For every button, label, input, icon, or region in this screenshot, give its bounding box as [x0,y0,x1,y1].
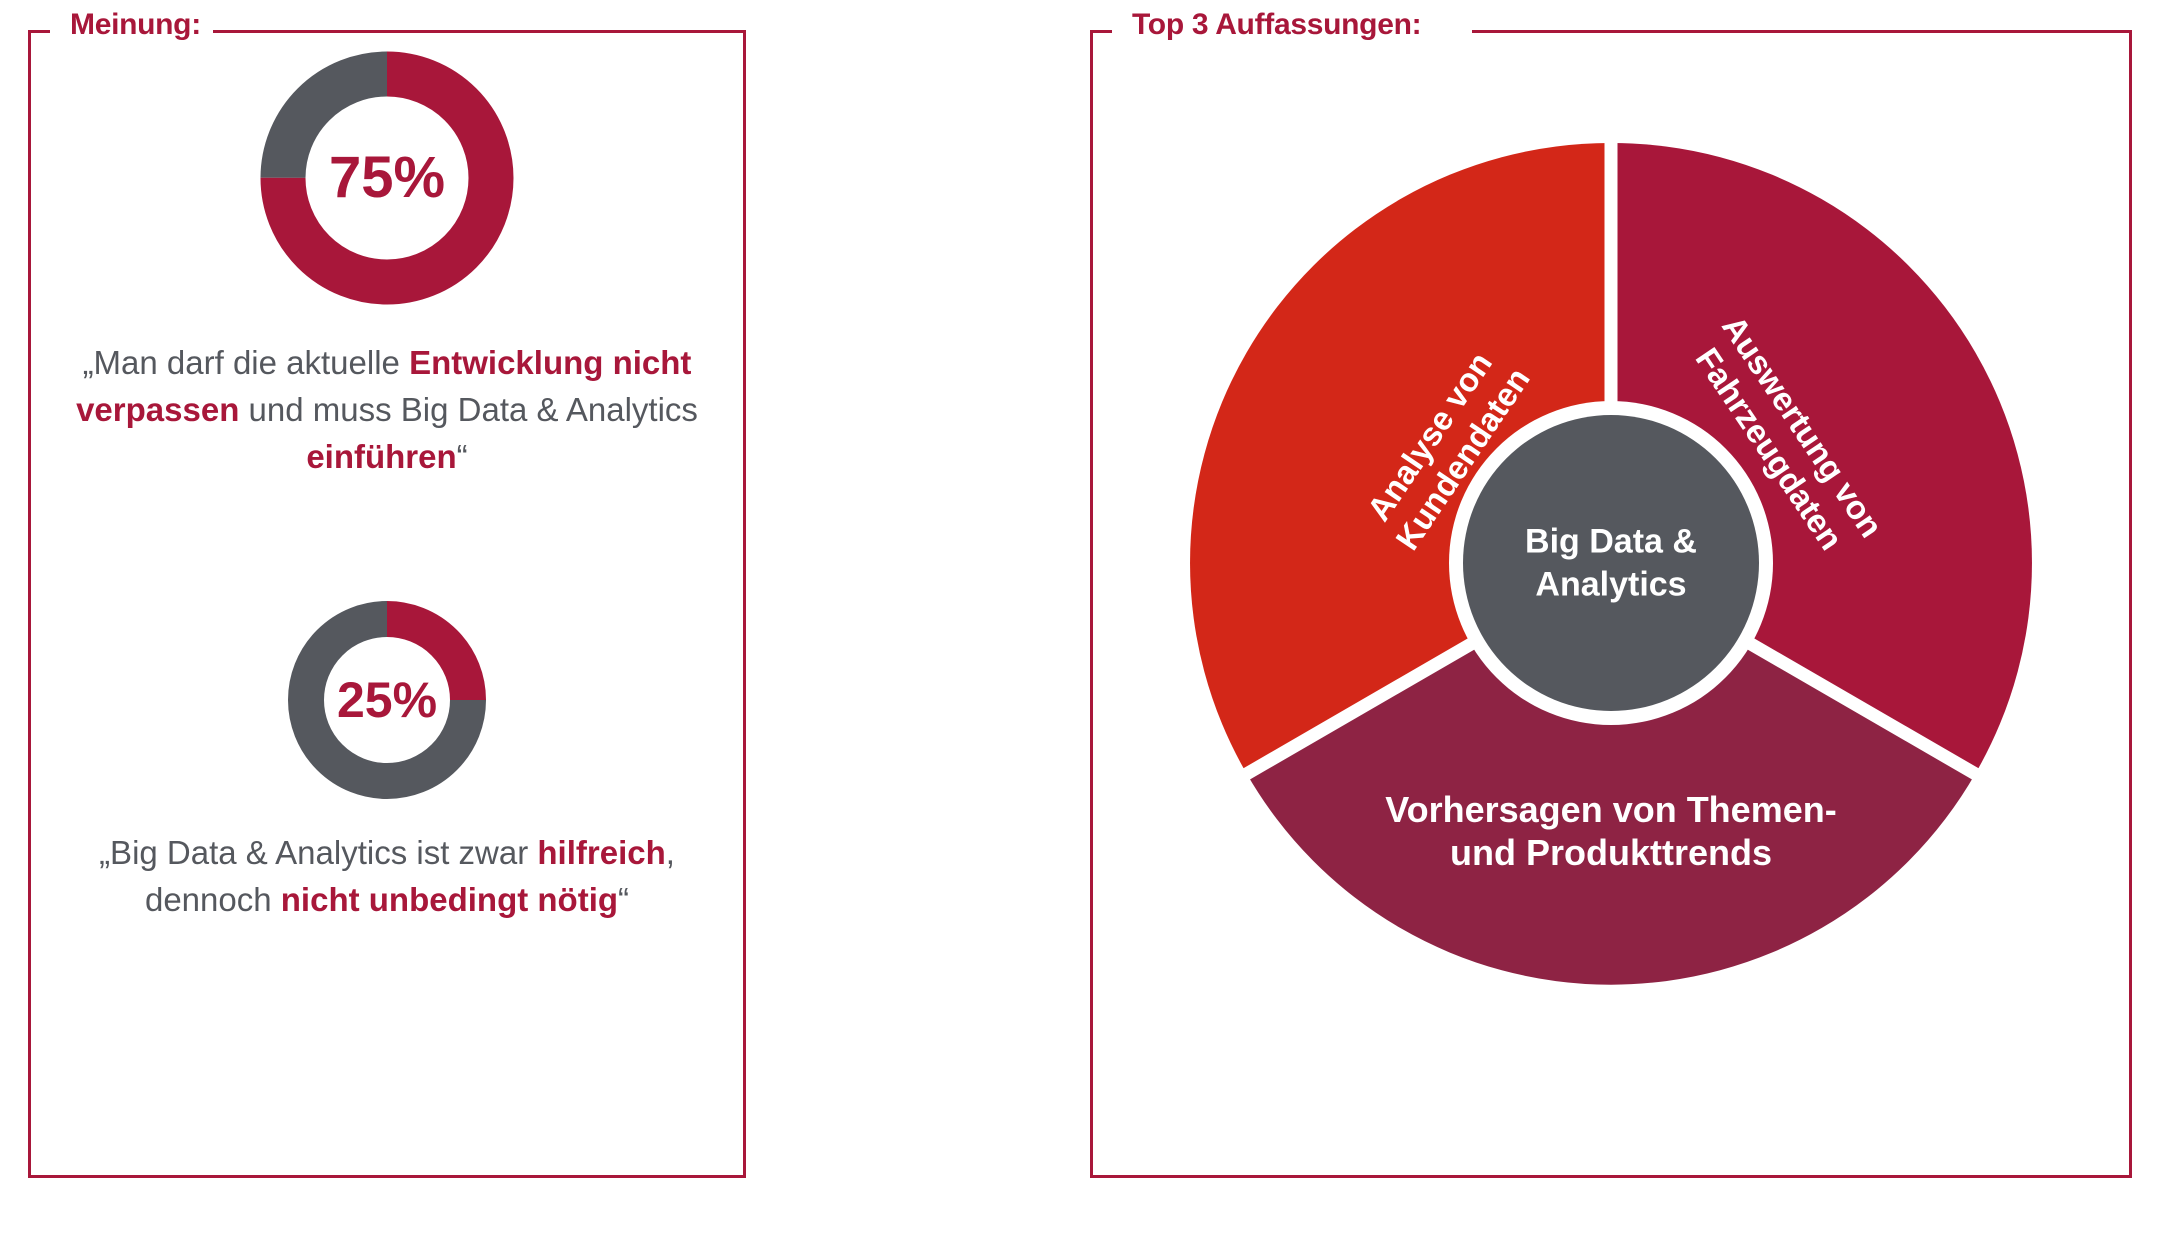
quote-plain: „Man darf die aktuelle [83,344,410,381]
pie-chart-top3: Big Data & Analytics Analyse von Kundend… [1146,98,2076,1028]
donut-block-75: 75% „Man darf die aktuelle Entwicklung n… [28,50,746,481]
quote-highlight: nicht unbedingt nötig [281,881,618,918]
panel-left-title: Meinung: [58,8,213,42]
donut-25-value-label: 25% [287,675,487,725]
quote-text-1: „Man darf die aktuelle Entwicklung nicht… [28,340,746,481]
panel-right-title: Top 3 Auffassungen: [1120,8,1433,42]
panel-left-frame-top-right [208,30,746,33]
quote-text-2: „Big Data & Analytics ist zwar hilfreich… [28,830,746,924]
donut-block-25: 25% „Big Data & Analytics ist zwar hilfr… [28,600,746,924]
pie-hub-label: Big Data & Analytics [1146,521,2076,606]
donut-chart-75: 75% [259,50,515,306]
donut-chart-25: 25% [287,600,487,800]
donut-75-value-label: 75% [259,149,515,207]
panel-right-frame-top-right [1472,30,2132,33]
panel-right-frame-top-left [1090,30,1112,33]
quote-plain: “ [618,881,629,918]
quote-highlight: hilfreich [537,834,665,871]
quote-plain: und muss Big Data & Analytics [239,391,698,428]
panel-auffassungen: Top 3 Auffassungen: [1090,30,2132,1178]
panel-left-frame-top-left [28,30,50,33]
infographic-stage: Meinung: 75% „Man darf die aktuelle Entw… [0,0,2160,1236]
quote-plain: “ [457,438,468,475]
quote-plain: „Big Data & Analytics ist zwar [99,834,537,871]
quote-highlight: einführen [306,438,456,475]
panel-meinung: Meinung: 75% „Man darf die aktuelle Entw… [28,30,746,1178]
